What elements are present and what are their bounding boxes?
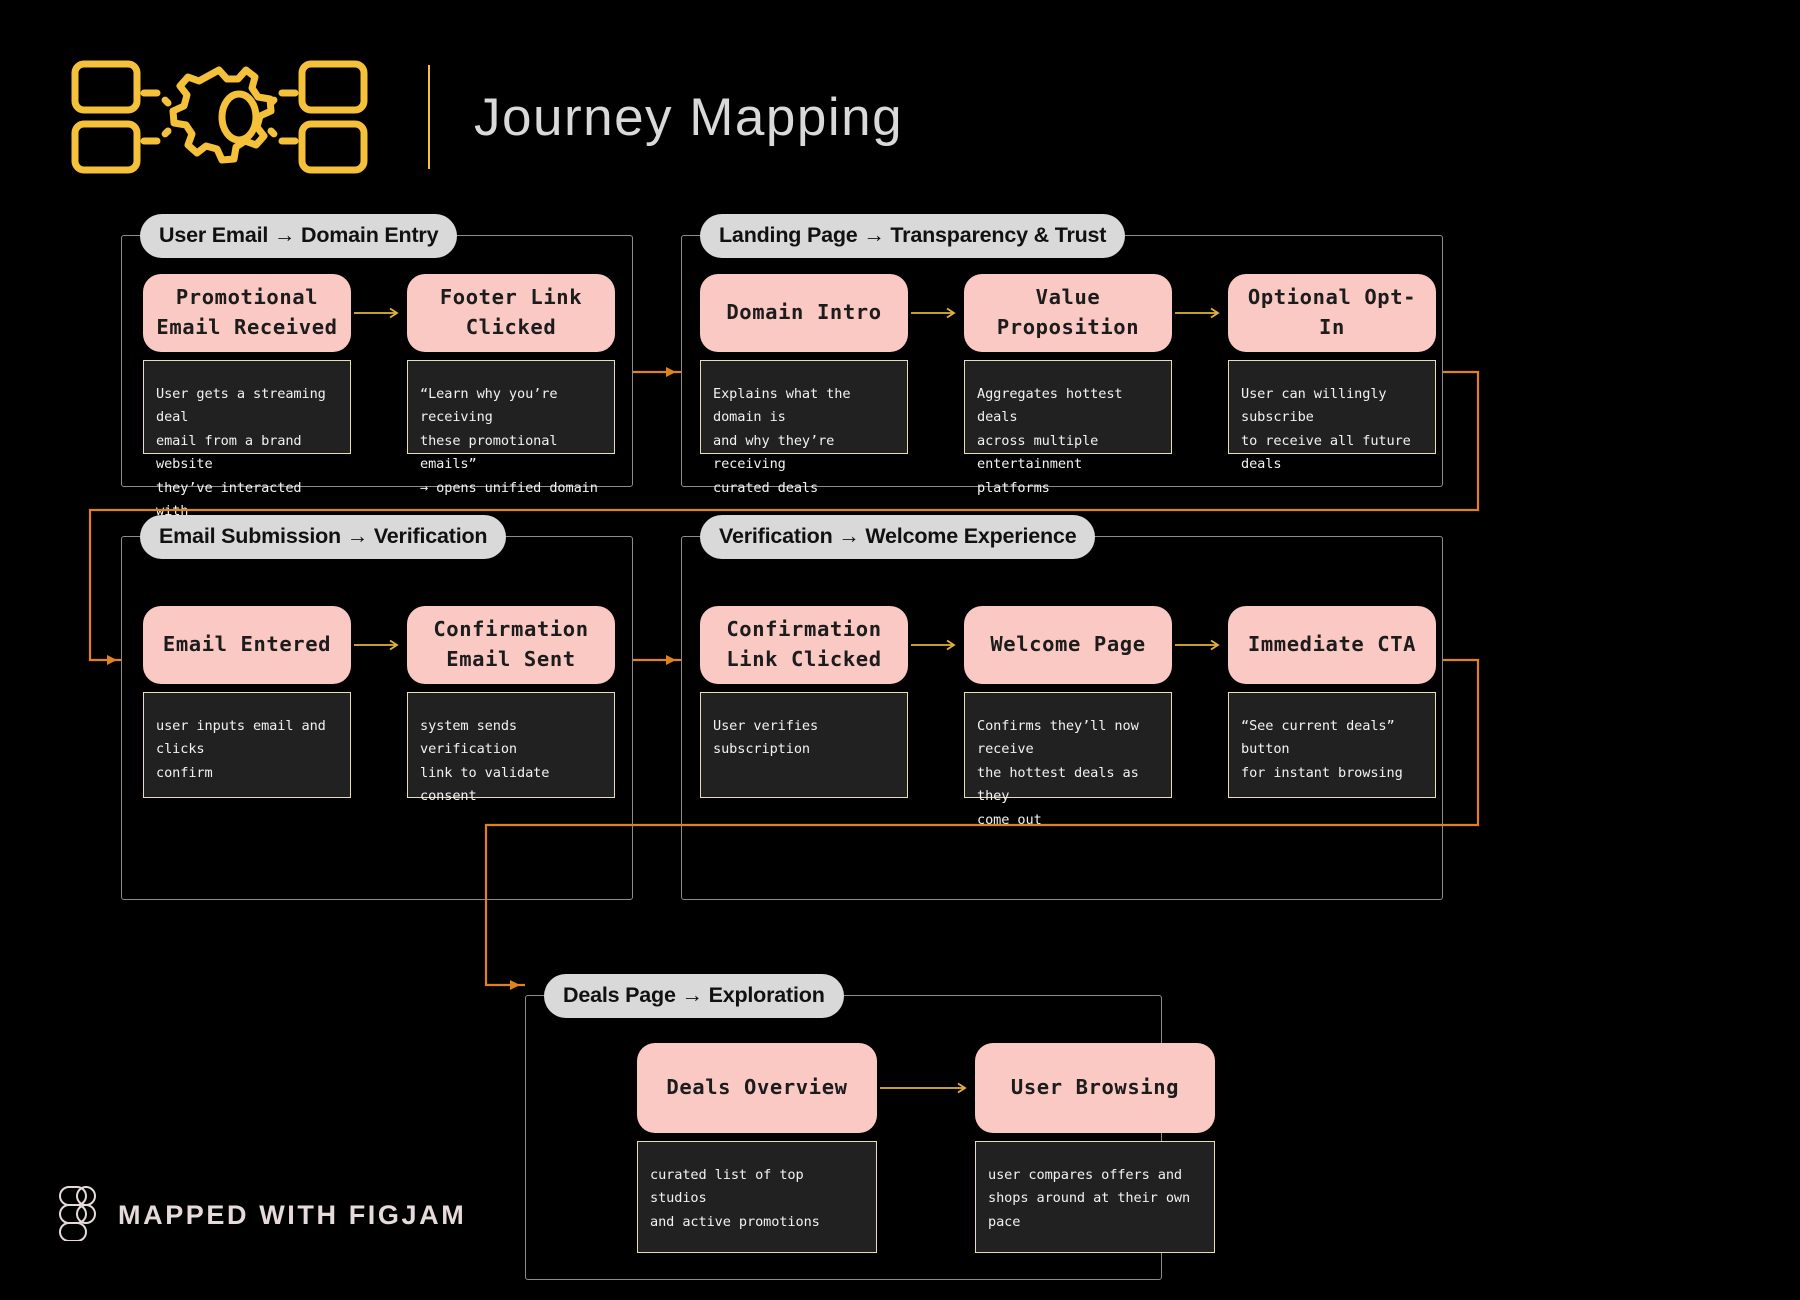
node-welcome-page[interactable]: Welcome Page Confirms they’ll now receiv… — [964, 606, 1172, 798]
node-immediate-cta[interactable]: Immediate CTA “See current deals” button… — [1228, 606, 1436, 798]
node-confirmation-link-clicked[interactable]: Confirmation Link Clicked User verifies … — [700, 606, 908, 798]
node-note: User gets a streaming deal email from a … — [143, 360, 351, 454]
node-deals-overview[interactable]: Deals Overview curated list of top studi… — [637, 1043, 877, 1253]
nodes-row-section-2: Domain Intro Explains what the domain is… — [700, 274, 1436, 454]
flow-arrow — [908, 274, 964, 352]
nodes-row-section-3: Email Entered user inputs email and clic… — [143, 606, 615, 798]
node-title[interactable]: Confirmation Email Sent — [407, 606, 615, 684]
flow-arrow — [877, 1043, 975, 1133]
node-note: “See current deals” button for instant b… — [1228, 692, 1436, 798]
section-label: Verification → Welcome Experience — [700, 515, 1095, 559]
node-title[interactable]: Confirmation Link Clicked — [700, 606, 908, 684]
node-title[interactable]: Domain Intro — [700, 274, 908, 352]
node-note: Explains what the domain is and why they… — [700, 360, 908, 454]
node-note: Confirms they’ll now receive the hottest… — [964, 692, 1172, 798]
node-title[interactable]: Footer Link Clicked — [407, 274, 615, 352]
flow-arrow — [1172, 606, 1228, 684]
node-title[interactable]: Welcome Page — [964, 606, 1172, 684]
node-note: system sends verification link to valida… — [407, 692, 615, 798]
node-confirmation-email-sent[interactable]: Confirmation Email Sent system sends ver… — [407, 606, 615, 798]
node-promotional-email-received[interactable]: Promotional Email Received User gets a s… — [143, 274, 351, 454]
node-title[interactable]: Immediate CTA — [1228, 606, 1436, 684]
page-footer: MAPPED WITH FIGJAM — [58, 1185, 466, 1246]
flow-arrow — [351, 606, 407, 684]
nodes-row-section-1: Promotional Email Received User gets a s… — [143, 274, 615, 454]
node-note: user compares offers and shops around at… — [975, 1141, 1215, 1253]
node-title[interactable]: Email Entered — [143, 606, 351, 684]
node-title[interactable]: Value Proposition — [964, 274, 1172, 352]
node-value-proposition[interactable]: Value Proposition Aggregates hottest dea… — [964, 274, 1172, 454]
figma-logo-icon — [58, 1185, 98, 1246]
node-optional-opt-in[interactable]: Optional Opt-In User can willingly subsc… — [1228, 274, 1436, 454]
gear-nodes-icon — [70, 58, 410, 176]
node-note: Aggregates hottest deals across multiple… — [964, 360, 1172, 454]
node-note: “Learn why you’re receiving these promot… — [407, 360, 615, 454]
node-domain-intro[interactable]: Domain Intro Explains what the domain is… — [700, 274, 908, 454]
nodes-row-section-4: Confirmation Link Clicked User verifies … — [700, 606, 1436, 798]
page-title: Journey Mapping — [474, 87, 903, 148]
node-title[interactable]: Promotional Email Received — [143, 274, 351, 352]
node-user-browsing[interactable]: User Browsing user compares offers and s… — [975, 1043, 1215, 1253]
node-footer-link-clicked[interactable]: Footer Link Clicked “Learn why you’re re… — [407, 274, 615, 454]
node-title[interactable]: Deals Overview — [637, 1043, 877, 1133]
page-header: Journey Mapping — [70, 58, 903, 176]
node-note: curated list of top studios and active p… — [637, 1141, 877, 1253]
section-label: Deals Page → Exploration — [544, 974, 844, 1018]
section-label: Email Submission → Verification — [140, 515, 506, 559]
section-label: Landing Page → Transparency & Trust — [700, 214, 1125, 258]
flow-arrow — [908, 606, 964, 684]
header-divider — [428, 65, 430, 169]
node-title[interactable]: User Browsing — [975, 1043, 1215, 1133]
node-note: User can willingly subscribe to receive … — [1228, 360, 1436, 454]
node-note: User verifies subscription — [700, 692, 908, 798]
section-label: User Email → Domain Entry — [140, 214, 457, 258]
footer-label: MAPPED WITH FIGJAM — [118, 1200, 466, 1231]
node-email-entered[interactable]: Email Entered user inputs email and clic… — [143, 606, 351, 798]
node-title[interactable]: Optional Opt-In — [1228, 274, 1436, 352]
node-note: user inputs email and clicks confirm — [143, 692, 351, 798]
flow-arrow — [351, 274, 407, 352]
nodes-row-section-5: Deals Overview curated list of top studi… — [637, 1043, 1215, 1253]
flow-arrow — [1172, 274, 1228, 352]
